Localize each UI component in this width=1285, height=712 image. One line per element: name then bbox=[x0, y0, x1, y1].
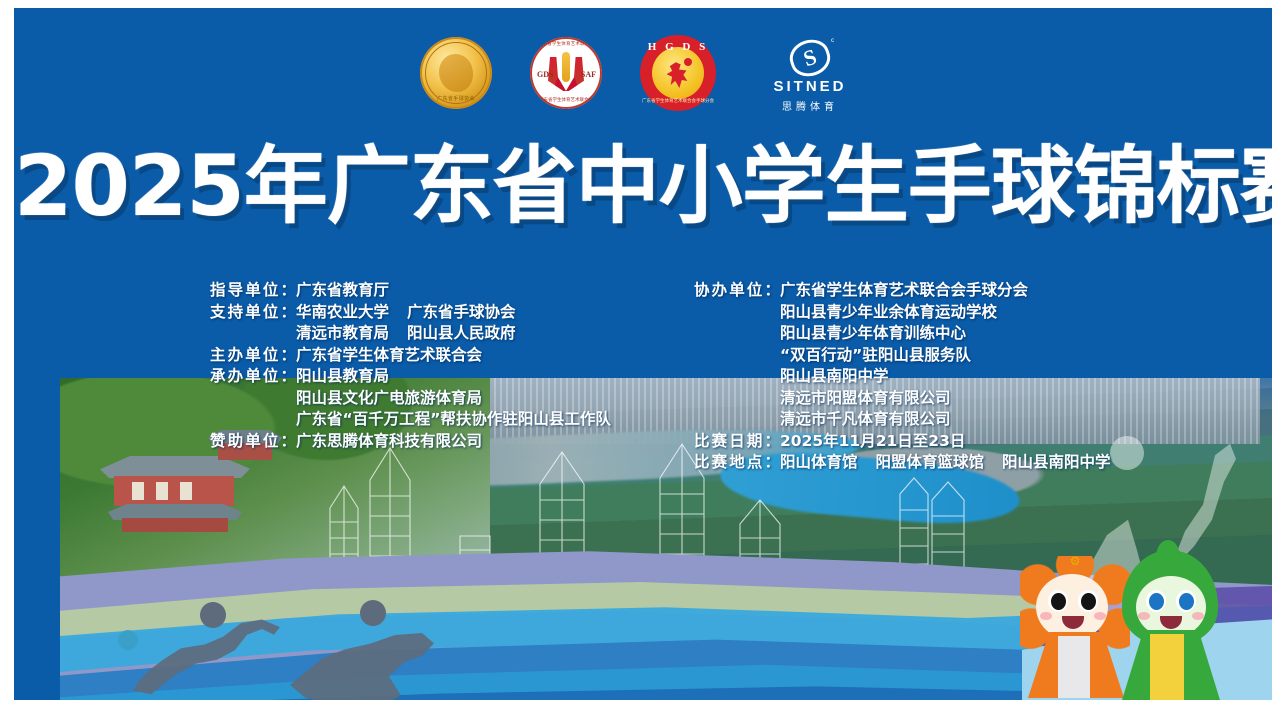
info-value: 阳山县南阳中学 bbox=[780, 366, 889, 388]
logo-abbr-right: SAF bbox=[581, 70, 596, 79]
blush-right bbox=[1094, 612, 1106, 620]
info-value: “双百行动”驻阳山县服务队 bbox=[780, 345, 971, 367]
guangdong-handball-association-logo: 广东省手球协会 bbox=[420, 37, 492, 109]
gds-saf-logo: 广东省学生体育艺术联合会 GDS SAF 广东省学生体育艺术联合会 bbox=[530, 37, 602, 109]
info-label: 赞助单位 bbox=[210, 431, 296, 453]
handball-icon bbox=[684, 58, 692, 66]
info-value: 清远市千凡体育有限公司 bbox=[780, 409, 951, 431]
info-value: 清远市教育局 bbox=[296, 323, 389, 345]
info-row: 阳山县青少年业余体育运动学校 bbox=[694, 302, 1111, 324]
logo-figure bbox=[439, 54, 473, 92]
copyright-mark: c bbox=[831, 38, 834, 44]
info-value: 阳山县青少年业余体育运动学校 bbox=[780, 302, 997, 324]
mascot-pair: ⚙ bbox=[1016, 550, 1226, 700]
info-value: 阳山县文化广电旅游体育局 bbox=[296, 388, 482, 410]
hgds-logo: H G D S 广东省学生体育艺术联合会手球分会 bbox=[640, 35, 716, 111]
blush-right bbox=[1192, 612, 1204, 620]
info-value: 广东省教育厅 bbox=[296, 280, 389, 302]
logo-abbr: H G D S bbox=[640, 41, 716, 53]
player-head-right bbox=[360, 600, 386, 626]
sitned-wordmark: SITNED bbox=[754, 79, 866, 96]
info-value: 阳盟体育篮球馆 bbox=[876, 452, 985, 474]
eye-left bbox=[1149, 593, 1164, 610]
mascot-robe bbox=[1150, 634, 1184, 700]
info-value: 阳山县青少年体育训练中心 bbox=[780, 323, 966, 345]
sitned-logo: S c SITNED 思腾体育 bbox=[754, 38, 866, 108]
mascot-emblem: ⚙ bbox=[1070, 554, 1081, 568]
mascot-face bbox=[1136, 576, 1206, 638]
info-value: 华南农业大学 bbox=[296, 302, 389, 324]
info-label: 比赛地点 bbox=[694, 452, 780, 474]
info-row: 广东省“百千万工程”帮扶协作驻阳山县工作队 bbox=[210, 409, 611, 431]
blush-left bbox=[1040, 612, 1052, 620]
info-label: 协办单位 bbox=[694, 280, 780, 302]
mouth bbox=[1062, 616, 1084, 629]
mouth bbox=[1160, 616, 1182, 629]
info-label: 比赛日期 bbox=[694, 431, 780, 453]
sitned-wordmark-cn: 思腾体育 bbox=[754, 98, 866, 113]
info-row: 赞助单位广东思腾体育科技有限公司 bbox=[210, 431, 611, 453]
info-value: 阳山体育馆 bbox=[780, 452, 858, 474]
info-value: 广东省学生体育艺术联合会 bbox=[296, 345, 482, 367]
info-row: 阳山县南阳中学 bbox=[694, 366, 1111, 388]
info-row: 指导单位广东省教育厅 bbox=[210, 280, 611, 302]
info-value: 阳山县教育局 bbox=[296, 366, 389, 388]
mascot-face bbox=[1036, 574, 1108, 640]
logo-arc-bottom-text: 广东省学生体育艺术联合会 bbox=[530, 97, 602, 103]
logo-abbr-left: GDS bbox=[537, 70, 553, 79]
eye-right bbox=[1081, 593, 1096, 610]
eye-right bbox=[1179, 593, 1194, 610]
info-row: 阳山县文化广电旅游体育局 bbox=[210, 388, 611, 410]
info-column-right: 协办单位广东省学生体育艺术联合会手球分会阳山县青少年业余体育运动学校阳山县青少年… bbox=[694, 280, 1111, 474]
info-value: 清远市阳盟体育有限公司 bbox=[780, 388, 951, 410]
logo-caption-cn: 广东省手球协会 bbox=[420, 95, 492, 102]
info-label: 指导单位 bbox=[210, 280, 296, 302]
green-leaf-mascot bbox=[1112, 550, 1228, 700]
logo-caption-cn: 广东省学生体育艺术联合会手球分会 bbox=[640, 98, 716, 104]
info-row: 清远市阳盟体育有限公司 bbox=[694, 388, 1111, 410]
info-row: 清远市千凡体育有限公司 bbox=[694, 409, 1111, 431]
info-block: 指导单位广东省教育厅支持单位华南农业大学广东省手球协会清远市教育局阳山县人民政府… bbox=[14, 280, 1272, 500]
temple-base bbox=[122, 518, 228, 532]
info-value: 广东省学生体育艺术联合会手球分会 bbox=[780, 280, 1028, 302]
info-row: 清远市教育局阳山县人民政府 bbox=[210, 323, 611, 345]
info-row: “双百行动”驻阳山县服务队 bbox=[694, 345, 1111, 367]
page-title: 2025年广东省中小学生手球锦标赛 bbox=[14, 144, 1272, 228]
info-value: 阳山县人民政府 bbox=[407, 323, 516, 345]
info-row: 阳山县青少年体育训练中心 bbox=[694, 323, 1111, 345]
handball-ball-silhouette bbox=[118, 630, 138, 650]
info-row: 比赛地点阳山体育馆阳盟体育篮球馆阳山县南阳中学 bbox=[694, 452, 1111, 474]
stamen-icon bbox=[562, 52, 570, 82]
info-row: 协办单位广东省学生体育艺术联合会手球分会 bbox=[694, 280, 1111, 302]
info-column-left: 指导单位广东省教育厅支持单位华南农业大学广东省手球协会清远市教育局阳山县人民政府… bbox=[210, 280, 611, 452]
info-value: 广东思腾体育科技有限公司 bbox=[296, 431, 482, 453]
eye-left bbox=[1051, 593, 1066, 610]
info-value: 广东省手球协会 bbox=[407, 302, 516, 324]
info-value: 广东省“百千万工程”帮扶协作驻阳山县工作队 bbox=[296, 409, 611, 431]
info-label: 主办单位 bbox=[210, 345, 296, 367]
logo-arc-top-text: 广东省学生体育艺术联合会 bbox=[530, 41, 602, 47]
player-head-left bbox=[200, 602, 226, 628]
poster-canvas: 广东省手球协会 广东省学生体育艺术联合会 GDS SAF 广东省学生体育艺术联合… bbox=[14, 8, 1272, 700]
info-label: 承办单位 bbox=[210, 366, 296, 388]
info-value: 2025年11月21日至23日 bbox=[780, 431, 965, 453]
info-row: 承办单位阳山县教育局 bbox=[210, 366, 611, 388]
blush-left bbox=[1138, 612, 1150, 620]
info-value: 阳山县南阳中学 bbox=[1002, 452, 1111, 474]
logo-row: 广东省手球协会 广东省学生体育艺术联合会 GDS SAF 广东省学生体育艺术联合… bbox=[14, 30, 1272, 116]
mascot-robe bbox=[1058, 636, 1090, 698]
info-label: 支持单位 bbox=[210, 302, 296, 324]
info-row: 比赛日期2025年11月21日至23日 bbox=[694, 431, 1111, 453]
info-row: 主办单位广东省学生体育艺术联合会 bbox=[210, 345, 611, 367]
info-row: 支持单位华南农业大学广东省手球协会 bbox=[210, 302, 611, 324]
sitned-mark-icon: S c bbox=[790, 40, 830, 76]
